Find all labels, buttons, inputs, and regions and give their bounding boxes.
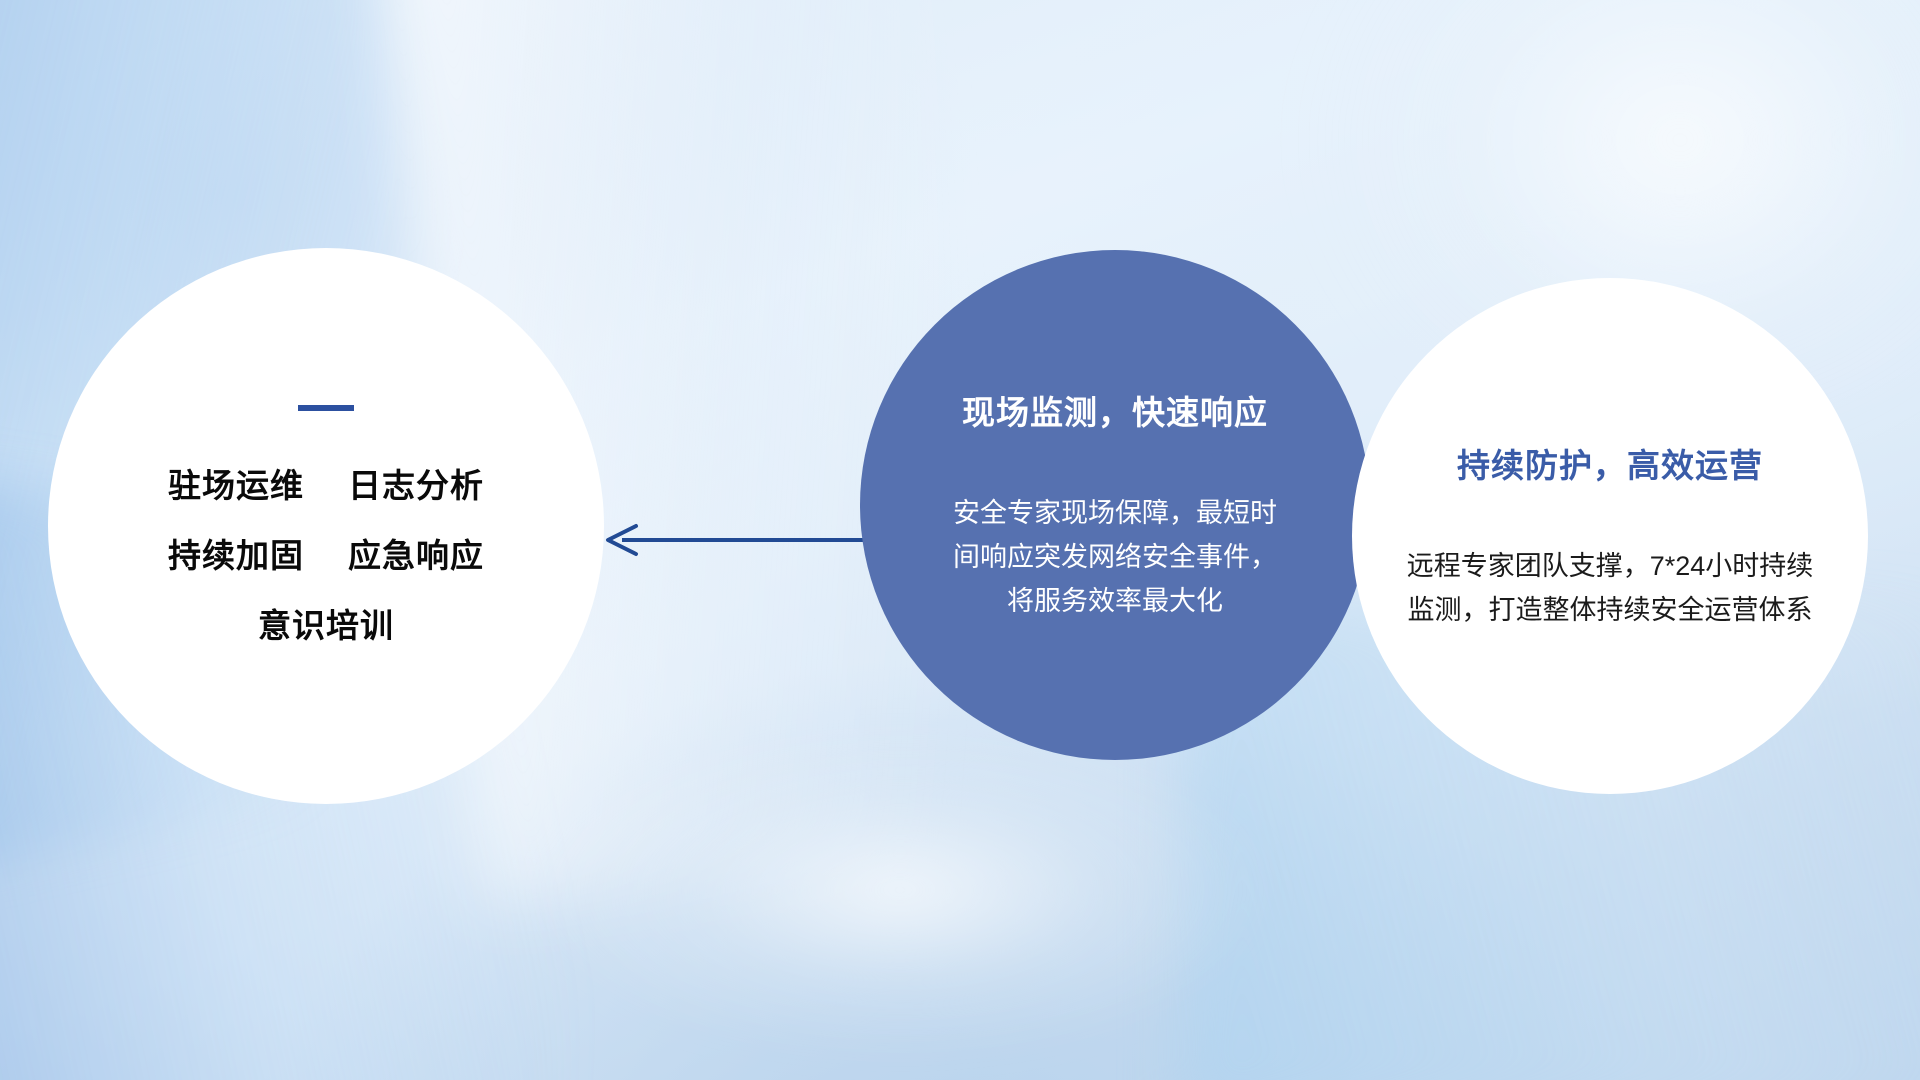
onsite-monitoring-circle[interactable]: 现场监测，快速响应 安全专家现场保障，最短时间响应突发网络安全事件，将服务效率最…	[860, 250, 1370, 760]
keyword-item[interactable]: 日志分析	[348, 459, 484, 507]
background-glow-bottom	[520, 720, 1280, 1060]
slide-canvas: 驻场运维 日志分析 持续加固 应急响应 意识培训 现场监测，快速响应 安全专家现…	[0, 0, 1920, 1080]
connector-arrow	[600, 512, 880, 568]
continuous-protection-body: 远程专家团队支撑，7*24小时持续监测，打造整体持续安全运营体系	[1405, 545, 1815, 632]
keyword-item[interactable]: 持续加固	[168, 529, 304, 577]
continuous-protection-circle[interactable]: 持续防护，高效运营 远程专家团队支撑，7*24小时持续监测，打造整体持续安全运营…	[1352, 278, 1868, 794]
arrow-shaft-and-head	[608, 526, 878, 554]
keyword-item[interactable]: 驻场运维	[168, 459, 304, 507]
left-circle-keyword-list: 驻场运维 日志分析 持续加固 应急响应 意识培训	[168, 459, 484, 647]
keyword-row: 持续加固 应急响应	[168, 529, 484, 577]
onsite-monitoring-title: 现场监测，快速响应	[962, 386, 1268, 434]
keyword-row: 驻场运维 日志分析	[168, 459, 484, 507]
onsite-monitoring-body: 安全专家现场保障，最短时间响应突发网络安全事件，将服务效率最大化	[950, 492, 1280, 623]
continuous-protection-title: 持续防护，高效运营	[1457, 439, 1763, 487]
keyword-row: 意识培训	[168, 599, 484, 647]
divider-dash-icon	[298, 405, 354, 411]
left-service-circle[interactable]: 驻场运维 日志分析 持续加固 应急响应 意识培训	[48, 248, 604, 804]
keyword-item[interactable]: 意识培训	[258, 599, 394, 647]
keyword-item[interactable]: 应急响应	[348, 529, 484, 577]
